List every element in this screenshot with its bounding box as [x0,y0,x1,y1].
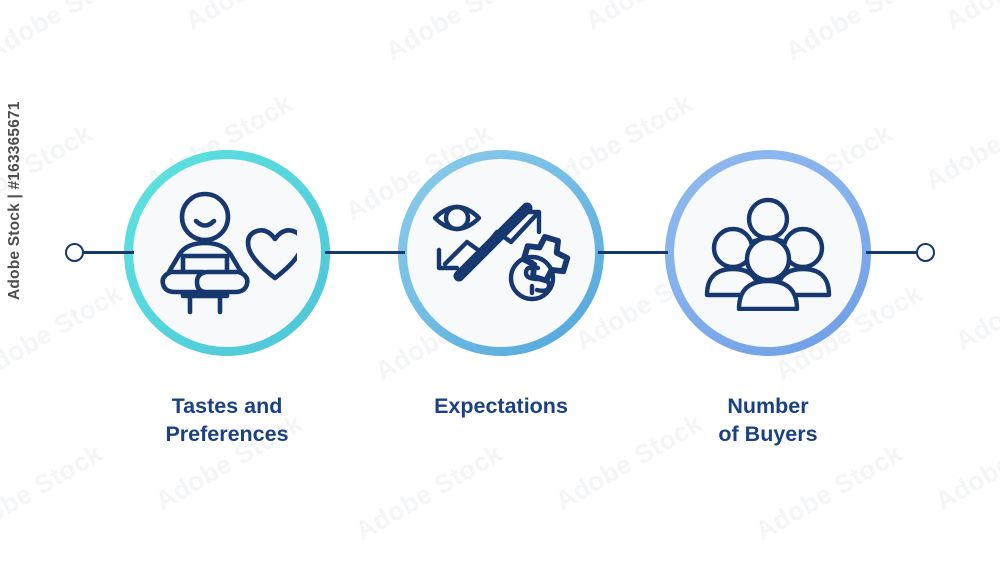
step-ring-1 [124,150,330,356]
eye-trend-gear-dollar-icon [431,190,571,316]
step-caption-2-line-1: Expectations [371,392,631,420]
timeline-diagram: Tastes and Preferences Expectations Numb… [0,0,1000,562]
step-caption-1: Tastes and Preferences [97,392,357,449]
step-ring-2 [398,150,604,356]
step-ring-inner-3 [674,159,862,347]
person-with-heart-icon [157,190,297,316]
group-of-people-icon [701,195,835,311]
step-node-expectations[interactable] [398,150,604,356]
connector-segment-1-2 [325,251,405,254]
connector-segment-end [866,251,918,254]
step-ring-inner-1 [133,159,321,347]
step-caption-1-line-2: Preferences [97,420,357,448]
step-caption-3-line-2: of Buyers [638,420,898,448]
timeline-start-dot [65,243,84,262]
step-caption-3-line-1: Number [638,392,898,420]
step-ring-3 [665,150,871,356]
step-node-number-of-buyers[interactable] [665,150,871,356]
connector-segment-start [82,251,134,254]
step-caption-2: Expectations [371,392,631,420]
step-caption-1-line-1: Tastes and [97,392,357,420]
infographic-canvas: Adobe Stock Adobe Stock Adobe Stock Adob… [0,0,1000,562]
step-node-tastes-and-preferences[interactable] [124,150,330,356]
connector-segment-2-3 [598,251,668,254]
timeline-end-dot [916,243,935,262]
step-ring-inner-2 [407,159,595,347]
step-caption-3: Number of Buyers [638,392,898,449]
adobe-stock-credit: Adobe Stock | #163365671 [6,101,24,300]
